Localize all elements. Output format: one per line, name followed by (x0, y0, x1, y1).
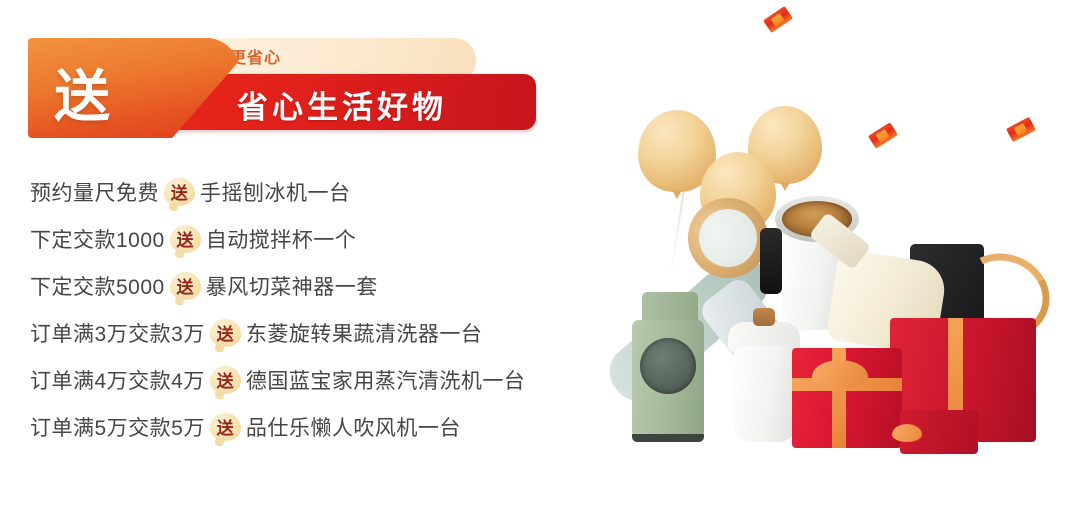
gift-condition: 订单满5万交款5万 (30, 412, 205, 442)
list-item: 下定交款5000 送 暴风切菜神器一套 (30, 262, 590, 309)
chopper-knob (753, 308, 775, 326)
confetti-icon (763, 6, 793, 33)
gift-reward: 德国蓝宝家用蒸汽清洗机一台 (246, 365, 526, 395)
song-badge-icon: 送 (164, 178, 195, 206)
gift-condition: 订单满4万交款4万 (30, 365, 205, 395)
song-badge-icon: 送 (170, 272, 201, 300)
list-item: 订单满3万交款3万 送 东菱旋转果蔬清洗器一台 (30, 309, 590, 356)
gift-condition: 预约量尺免费 (30, 177, 159, 207)
list-item: 下定交款1000 送 自动搅拌杯一个 (30, 215, 590, 262)
product-artwork (560, 0, 1080, 505)
slicer-drum (640, 338, 696, 394)
song-badge-icon: 送 (210, 319, 241, 347)
gift-condition: 下定交款5000 (30, 271, 165, 301)
gift-condition: 下定交款1000 (30, 224, 165, 254)
gift-reward: 自动搅拌杯一个 (206, 224, 357, 254)
chopper-jar (732, 346, 798, 442)
gift-list: 预约量尺免费 送 手摇刨冰机一台 下定交款1000 送 自动搅拌杯一个 下定交款… (30, 168, 590, 450)
promotional-poster: 整装更省心 省心生活好物 送 预约量尺免费 送 手摇刨冰机一台 下定交款1000… (0, 0, 1080, 505)
slicer-foot (632, 434, 704, 442)
list-item: 预约量尺免费 送 手摇刨冰机一台 (30, 168, 590, 215)
gift-condition: 订单满3万交款3万 (30, 318, 205, 348)
confetti-icon (1006, 117, 1036, 142)
song-badge-icon: 送 (170, 225, 201, 253)
gift-reward: 手摇刨冰机一台 (200, 177, 351, 207)
list-item: 订单满4万交款4万 送 德国蓝宝家用蒸汽清洗机一台 (30, 356, 590, 403)
song-badge-icon: 送 (210, 413, 241, 441)
gift-reward: 东菱旋转果蔬清洗器一台 (246, 318, 483, 348)
gift-reward: 品仕乐懒人吹风机一台 (246, 412, 461, 442)
song-badge-icon: 送 (210, 366, 241, 394)
promo-banner: 整装更省心 省心生活好物 送 (28, 38, 548, 140)
confetti-icon (868, 122, 898, 148)
mixing-cup-handle (760, 228, 782, 294)
gift-reward: 暴风切菜神器一套 (206, 271, 378, 301)
list-item: 订单满5万交款5万 送 品仕乐懒人吹风机一台 (30, 403, 590, 450)
gift-bow-icon (812, 360, 868, 388)
banner-song-character: 送 (54, 52, 112, 133)
gift-bow-icon (892, 424, 922, 442)
